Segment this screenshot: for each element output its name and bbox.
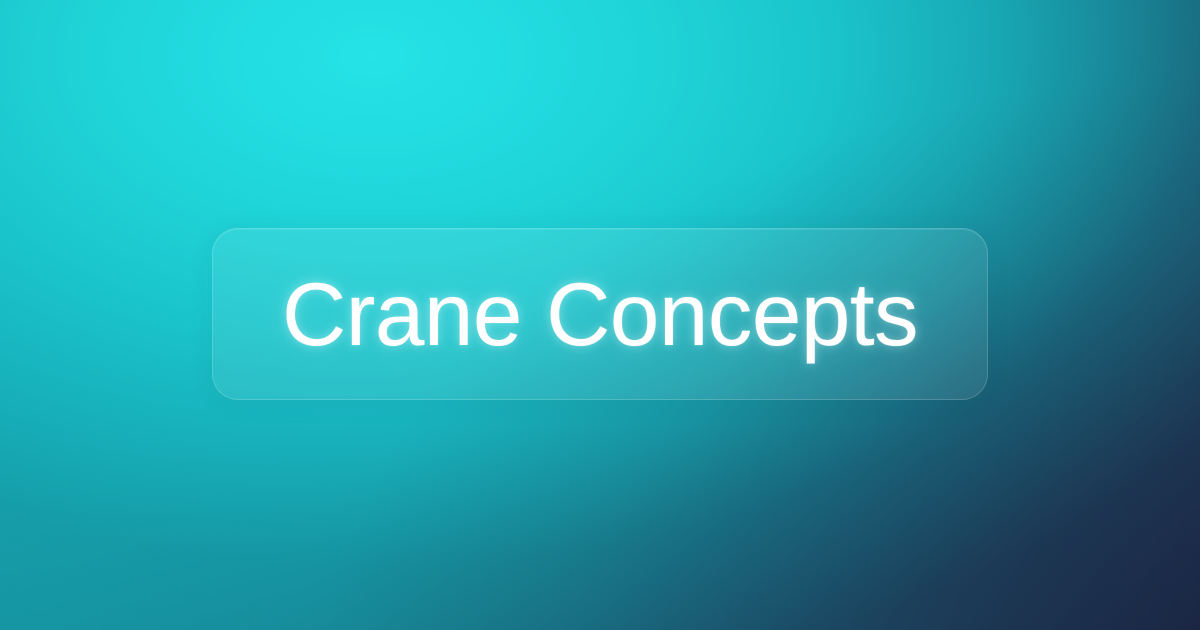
og-image-canvas: Crane Concepts: [0, 0, 1200, 630]
page-title: Crane Concepts: [282, 270, 918, 359]
title-glass-card: Crane Concepts: [212, 228, 988, 400]
